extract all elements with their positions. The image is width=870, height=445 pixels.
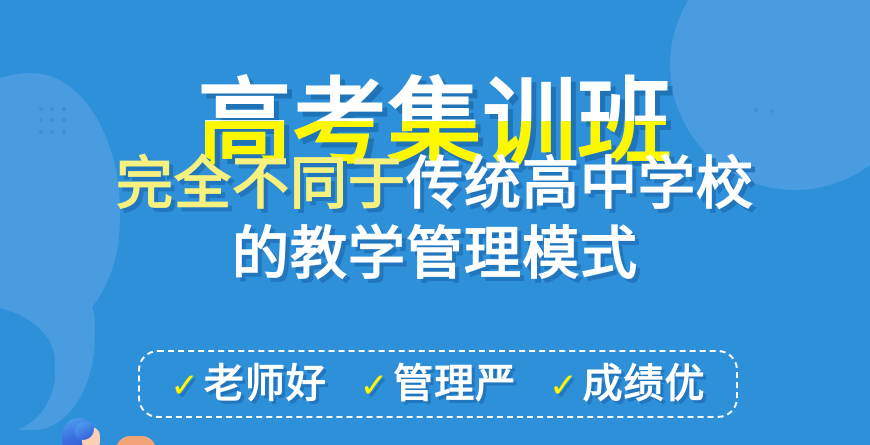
feature-item-2: ✓ 成绩优 (549, 364, 706, 404)
subtitle-line-1-plain: 传统高中学校 (406, 151, 754, 217)
promo-banner: 高考集训班 完全不同于传统高中学校 的教学管理模式 ✓ 老师好 ✓ 管理严 ✓ … (0, 0, 870, 445)
features-badge: ✓ 老师好 ✓ 管理严 ✓ 成绩优 (138, 350, 738, 418)
feature-item-1: ✓ 管理严 (360, 364, 517, 404)
check-icon: ✓ (549, 369, 578, 403)
banner-content: 高考集训班 完全不同于传统高中学校 的教学管理模式 ✓ 老师好 ✓ 管理严 ✓ … (0, 0, 870, 445)
check-icon: ✓ (170, 369, 199, 403)
subtitle-line-1-highlight: 完全不同于 (116, 151, 406, 217)
feature-label: 管理严 (393, 364, 516, 404)
feature-label: 老师好 (204, 364, 327, 404)
feature-item-0: ✓ 老师好 (170, 364, 327, 404)
check-icon: ✓ (360, 369, 389, 403)
subtitle-line-1: 完全不同于传统高中学校 (0, 150, 870, 220)
feature-label: 成绩优 (583, 364, 706, 404)
banner-subtitle: 完全不同于传统高中学校 的教学管理模式 (0, 150, 870, 289)
subtitle-line-2: 的教学管理模式 (0, 220, 870, 290)
